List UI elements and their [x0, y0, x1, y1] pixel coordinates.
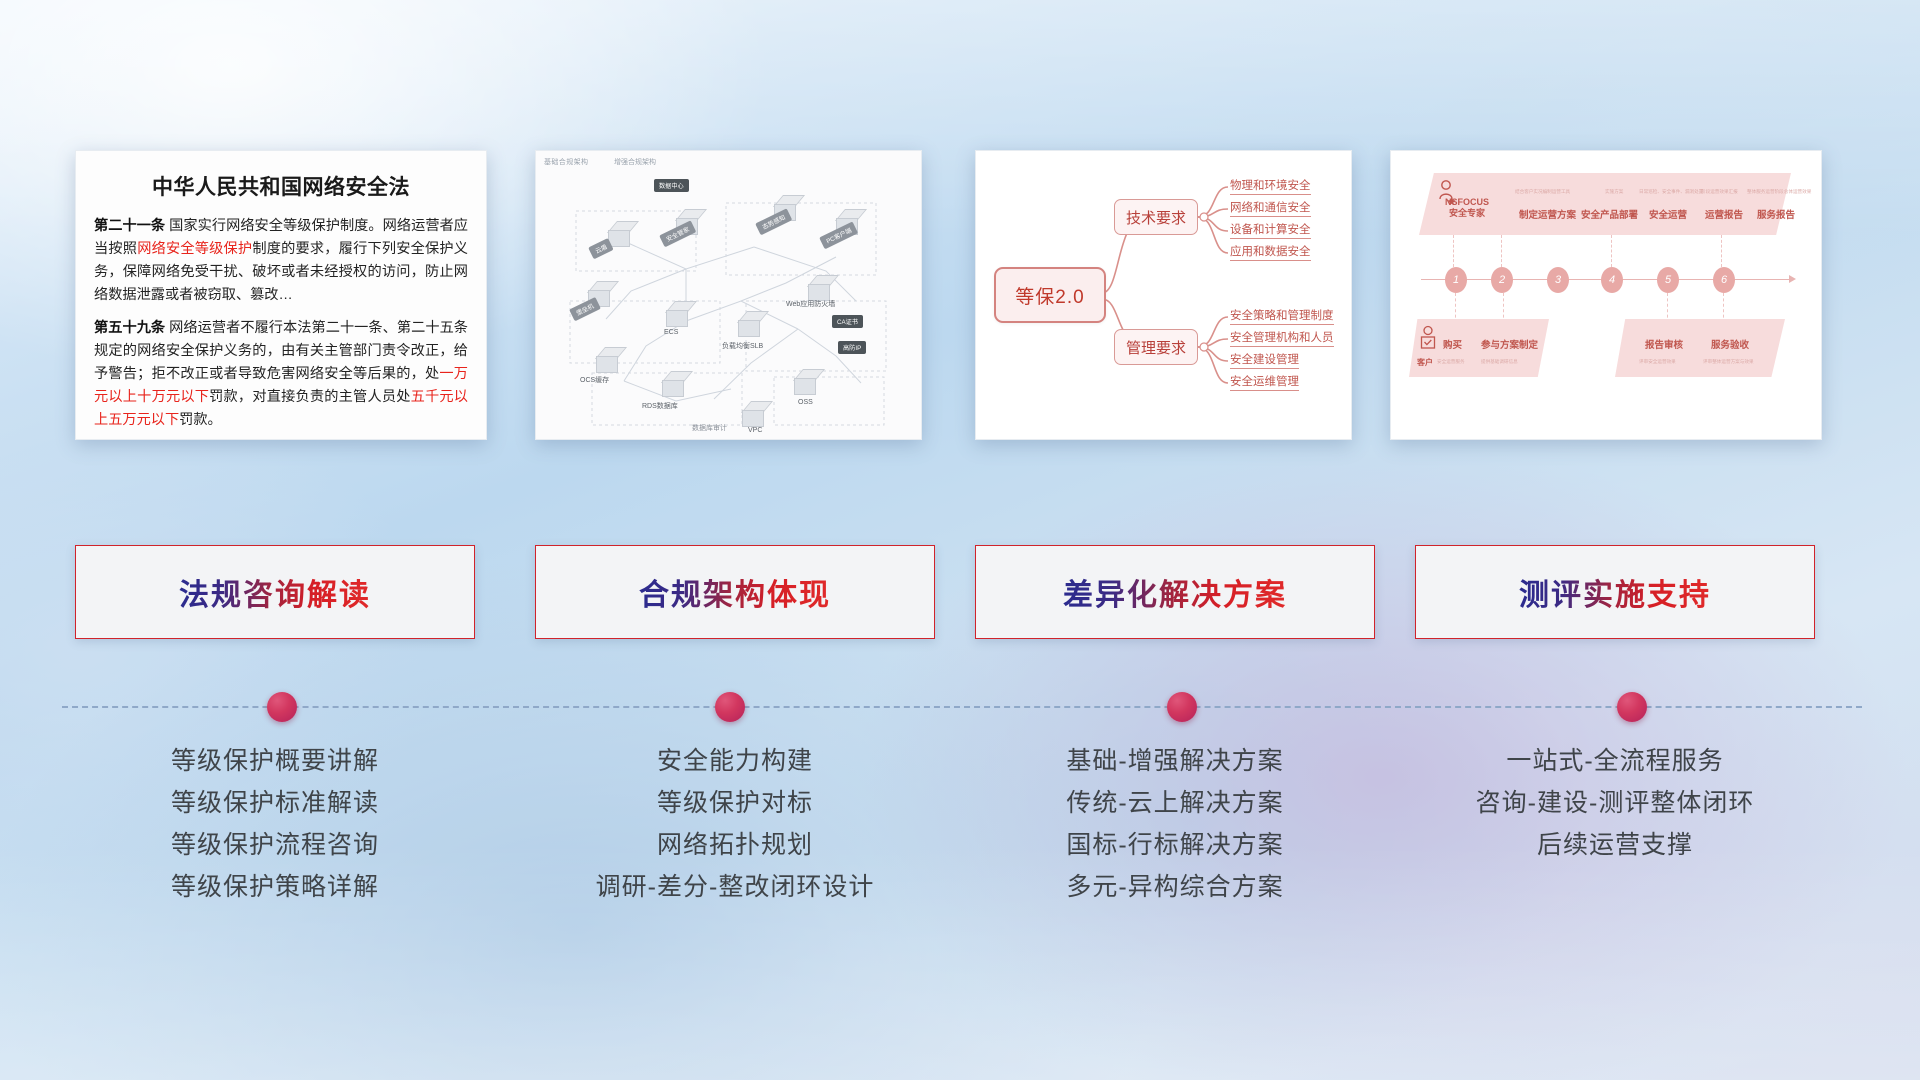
roadmap-br-title-1: 报告审核	[1645, 337, 1683, 351]
section-heading-box-3[interactable]: 差异化解决方案	[975, 545, 1375, 639]
mindmap-leaf-mgmt-4: 安全运维管理	[1230, 373, 1299, 391]
arch-tag-ecs: ECS	[664, 329, 678, 336]
roadmap-dash-a	[1453, 235, 1455, 267]
detail-columns: 等级保护概要讲解 等级保护标准解读 等级保护流程咨询 等级保护策略详解 安全能力…	[0, 740, 1920, 960]
roadmap-milestone-1: 1	[1445, 267, 1467, 293]
list-item: 安全能力构建	[530, 740, 940, 782]
section-heading-label-1: 法规咨询解读	[179, 570, 371, 614]
roadmap-brand: NSFOCUS 安全专家	[1431, 197, 1503, 220]
arch-tag-waf: Web应用防火墙	[786, 299, 835, 309]
arch-node-slb	[738, 311, 760, 335]
roadmap-top-title-2: 安全产品部署	[1581, 207, 1638, 221]
arch-tag-antiddos: 高防IP	[838, 341, 866, 354]
mindmap-root: 等保2.0	[994, 267, 1106, 323]
section-heading-box-1[interactable]: 法规咨询解读	[75, 545, 475, 639]
mindmap-leaf-mgmt-3: 安全建设管理	[1230, 351, 1299, 369]
card-mindmap-dengbao[interactable]: 等保2.0 技术要求 管理要求 物理和环境安全 网络和通信安全 设备和计算安全 …	[975, 150, 1352, 440]
arch-tag-slb: 负载均衡SLB	[722, 341, 763, 351]
arch-node-rds	[662, 371, 684, 395]
arch-tag-ca: CA证书	[832, 315, 863, 328]
mindmap-branch-technical: 技术要求	[1114, 199, 1198, 235]
timeline-node-4[interactable]	[1617, 692, 1647, 722]
arch-tag-ocs: OCS缓存	[580, 375, 609, 385]
slide-stage: 中华人民共和国网络安全法 第二十一条 国家实行网络安全等级保护制度。网络运营者应…	[0, 0, 1920, 1080]
roadmap-top-sub-1: 结合客户实况编制运营工具	[1515, 189, 1570, 195]
card-cybersecurity-law[interactable]: 中华人民共和国网络安全法 第二十一条 国家实行网络安全等级保护制度。网络运营者应…	[75, 150, 487, 440]
roadmap-top-sub-3: 日常巡检、安全事件、漏洞处置	[1639, 189, 1703, 195]
timeline-node-1[interactable]	[267, 692, 297, 722]
mindmap-leaf-tech-1: 物理和环境安全	[1230, 177, 1311, 195]
mindmap-leaf-tech-2: 网络和通信安全	[1230, 199, 1311, 217]
mindmap-leaf-mgmt-2: 安全管理机构和人员	[1230, 329, 1334, 347]
architecture-diagram: 基础合规架构 增强合规架构	[536, 151, 921, 439]
roadmap-dash-e	[1455, 293, 1457, 323]
list-item: 调研-差分-整改闭环设计	[530, 866, 940, 908]
roadmap-top-sub-4: 阶段运营效果汇报	[1701, 189, 1738, 195]
card-cloud-architecture[interactable]: 基础合规架构 增强合规架构	[535, 150, 922, 440]
roadmap-brand-sub: 安全专家	[1449, 208, 1485, 218]
roadmap-dash-b	[1501, 235, 1503, 267]
roadmap-top-title-5: 服务报告	[1757, 207, 1795, 221]
roadmap-dash-h	[1723, 293, 1725, 323]
section-heading-label-2: 合规架构体现	[639, 570, 831, 614]
roadmap-top-title-4: 运营报告	[1705, 207, 1743, 221]
roadmap-top-sub-2: 实施方案	[1605, 189, 1623, 195]
roadmap-milestone-2: 2	[1491, 267, 1513, 293]
law-title: 中华人民共和国网络安全法	[94, 171, 468, 201]
arch-label-basic: 基础合规架构	[544, 157, 588, 167]
list-item: 一站式-全流程服务	[1410, 740, 1820, 782]
law-article-21-label: 第二十一条	[94, 218, 165, 234]
section-heading-label-4: 测评实施支持	[1519, 570, 1711, 614]
mindmap-leaf-tech-4: 应用和数据安全	[1230, 243, 1311, 261]
roadmap-milestone-4: 4	[1601, 267, 1623, 293]
roadmap-milestone-6: 6	[1713, 267, 1735, 293]
detail-column-1: 等级保护概要讲解 等级保护标准解读 等级保护流程咨询 等级保护策略详解	[75, 740, 475, 908]
arch-tag-rds: RDS数据库	[642, 401, 678, 411]
roadmap-bl-sub-2: 提供基础调研信息	[1481, 359, 1518, 365]
roadmap-bl-sub-1: 安全运营服务	[1437, 359, 1465, 365]
list-item: 等级保护对标	[530, 782, 940, 824]
list-item: 等级保护概要讲解	[75, 740, 475, 782]
law-article-59-text-c: 罚款。	[179, 412, 222, 428]
arch-node-ecs	[666, 301, 688, 325]
list-item: 咨询-建设-测评整体闭环	[1410, 782, 1820, 824]
roadmap-bottom-right-band	[1615, 319, 1785, 377]
arch-node-ocs	[596, 347, 618, 371]
mindmap-branch-management: 管理要求	[1114, 329, 1198, 365]
law-article-21: 第二十一条 国家实行网络安全等级保护制度。网络运营者应当按照网络安全等级保护制度…	[94, 215, 468, 307]
roadmap-milestone-5: 5	[1657, 267, 1679, 293]
roadmap-diagram: NSFOCUS 安全专家 结合客户实况编制运营工具 制定运营方案 实施方案 安全…	[1391, 151, 1821, 439]
timeline-node-3[interactable]	[1167, 692, 1197, 722]
section-heading-box-4[interactable]: 测评实施支持	[1415, 545, 1815, 639]
detail-column-2: 安全能力构建 等级保护对标 网络拓扑规划 调研-差分-整改闭环设计	[530, 740, 940, 908]
law-article-59-label: 第五十九条	[94, 320, 165, 336]
customer-icon	[1417, 325, 1439, 353]
roadmap-bl-title-1: 购买	[1443, 337, 1462, 351]
law-article-59: 第五十九条 网络运营者不履行本法第二十一条、第二十五条规定的网络安全保护义务的，…	[94, 317, 468, 432]
mindmap-leaf-tech-3: 设备和计算安全	[1230, 221, 1311, 239]
law-document: 中华人民共和国网络安全法 第二十一条 国家实行网络安全等级保护制度。网络运营者应…	[76, 151, 486, 439]
list-item: 传统-云上解决方案	[975, 782, 1375, 824]
arch-tag-datacenter: 数据中心	[654, 179, 689, 192]
roadmap-axis-arrow	[1789, 275, 1796, 283]
roadmap-dash-d	[1721, 235, 1723, 267]
arch-tag-oss: OSS	[798, 399, 813, 406]
roadmap-br-sub-1: 评审安全运营效果	[1639, 359, 1676, 365]
roadmap-dash-g	[1667, 293, 1669, 323]
roadmap-brand-name: NSFOCUS	[1445, 197, 1489, 207]
roadmap-top-sub-5: 整体服务运营阶段总体运营效果	[1747, 189, 1811, 195]
mindmap-leaf-mgmt-1: 安全策略和管理制度	[1230, 307, 1334, 325]
list-item: 等级保护标准解读	[75, 782, 475, 824]
roadmap-dash-f	[1503, 293, 1505, 323]
law-article-59-text-b: 罚款，对直接负责的主管人员处	[209, 389, 410, 405]
thumbnail-card-row: 中华人民共和国网络安全法 第二十一条 国家实行网络安全等级保护制度。网络运营者应…	[0, 150, 1920, 440]
section-heading-row: 法规咨询解读 合规架构体现 差异化解决方案 测评实施支持	[0, 545, 1920, 640]
list-item: 等级保护策略详解	[75, 866, 475, 908]
detail-column-4: 一站式-全流程服务 咨询-建设-测评整体闭环 后续运营支撑	[1410, 740, 1820, 866]
roadmap-br-sub-2: 评审整体运营方案与效果	[1703, 359, 1754, 365]
mindmap-diagram: 等保2.0 技术要求 管理要求 物理和环境安全 网络和通信安全 设备和计算安全 …	[976, 151, 1351, 439]
arch-tag-vpc: VPC	[748, 427, 762, 434]
arch-node-oss	[794, 369, 816, 393]
list-item: 基础-增强解决方案	[975, 740, 1375, 782]
detail-column-3: 基础-增强解决方案 传统-云上解决方案 国标-行标解决方案 多元-异构综合方案	[975, 740, 1375, 908]
law-article-21-highlight: 网络安全等级保护	[137, 241, 252, 257]
roadmap-milestone-3: 3	[1547, 267, 1569, 293]
roadmap-dash-c	[1611, 235, 1613, 267]
roadmap-customer-label: 客户	[1417, 357, 1433, 368]
list-item: 国标-行标解决方案	[975, 824, 1375, 866]
roadmap-br-title-2: 服务验收	[1711, 337, 1749, 351]
arch-tag-db-audit: 数据库审计	[692, 423, 727, 433]
list-item: 后续运营支撑	[1410, 824, 1820, 866]
section-heading-box-2[interactable]: 合规架构体现	[535, 545, 935, 639]
list-item: 网络拓扑规划	[530, 824, 940, 866]
timeline-node-2[interactable]	[715, 692, 745, 722]
list-item: 等级保护流程咨询	[75, 824, 475, 866]
roadmap-top-title-3: 安全运营	[1649, 207, 1687, 221]
timeline-rail	[62, 706, 1862, 708]
arch-node-waf	[808, 275, 830, 299]
arch-label-enhanced: 增强合规架构	[614, 157, 656, 167]
arch-node-cloud-shield	[608, 221, 630, 245]
arch-node-vpc	[742, 401, 764, 425]
card-nsfocus-roadmap[interactable]: NSFOCUS 安全专家 结合客户实况编制运营工具 制定运营方案 实施方案 安全…	[1390, 150, 1822, 440]
roadmap-bl-title-2: 参与方案制定	[1481, 337, 1538, 351]
list-item: 多元-异构综合方案	[975, 866, 1375, 908]
roadmap-top-title-1: 制定运营方案	[1519, 207, 1576, 221]
timeline	[62, 692, 1862, 722]
section-heading-label-3: 差异化解决方案	[1063, 570, 1287, 614]
